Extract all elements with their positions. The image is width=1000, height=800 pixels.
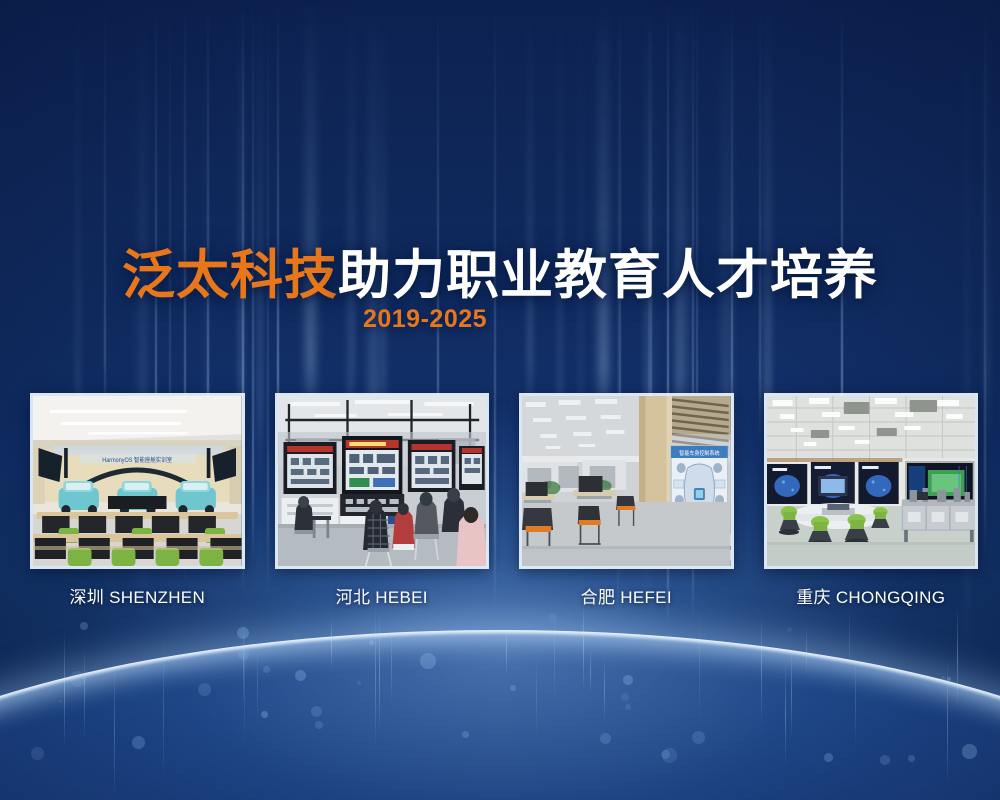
photo-chongqing — [767, 396, 976, 566]
caption-hebei: 河北 HEBEI — [275, 583, 490, 611]
gallery-item-hebei[interactable] — [275, 393, 490, 569]
brand-name: 泛太科技 — [122, 246, 338, 305]
banner-stage: 泛太科技助力职业教育人才培养 2019-2025 — [0, 0, 1000, 800]
photo-shenzhen: HarmonyOS 智能座舱实训室 — [33, 396, 242, 566]
photo-hebei — [278, 396, 487, 566]
photo-gallery: HarmonyOS 智能座舱实训室 — [30, 393, 978, 569]
caption-shenzhen: 深圳 SHENZHEN — [30, 583, 245, 611]
caption-chongqing: 重庆 CHONGQING — [764, 583, 979, 611]
year-range: 2019-2025 — [0, 305, 1000, 334]
page-title: 泛太科技助力职业教育人才培养 — [0, 233, 1000, 309]
photo-frame: HarmonyOS 智能座舱实训室 — [30, 393, 245, 569]
photo-frame: 智能车身控制系统 — [519, 393, 734, 569]
gallery-item-hefei[interactable]: 智能车身控制系统 — [519, 393, 734, 569]
svg-text:HarmonyOS 智能座舱实训室: HarmonyOS 智能座舱实训室 — [102, 456, 172, 464]
photo-frame — [275, 393, 490, 569]
photo-frame — [764, 393, 979, 569]
photo-hefei: 智能车身控制系统 — [522, 396, 731, 566]
gallery-captions: 深圳 SHENZHEN 河北 HEBEI 合肥 HEFEI 重庆 CHONGQI… — [30, 583, 978, 611]
svg-text:智能车身控制系统: 智能车身控制系统 — [679, 449, 720, 457]
gallery-item-shenzhen[interactable]: HarmonyOS 智能座舱实训室 — [30, 393, 245, 569]
headline-rest: 助力职业教育人才培养 — [338, 246, 878, 305]
caption-hefei: 合肥 HEFEI — [519, 583, 734, 611]
gallery-item-chongqing[interactable] — [764, 393, 979, 569]
